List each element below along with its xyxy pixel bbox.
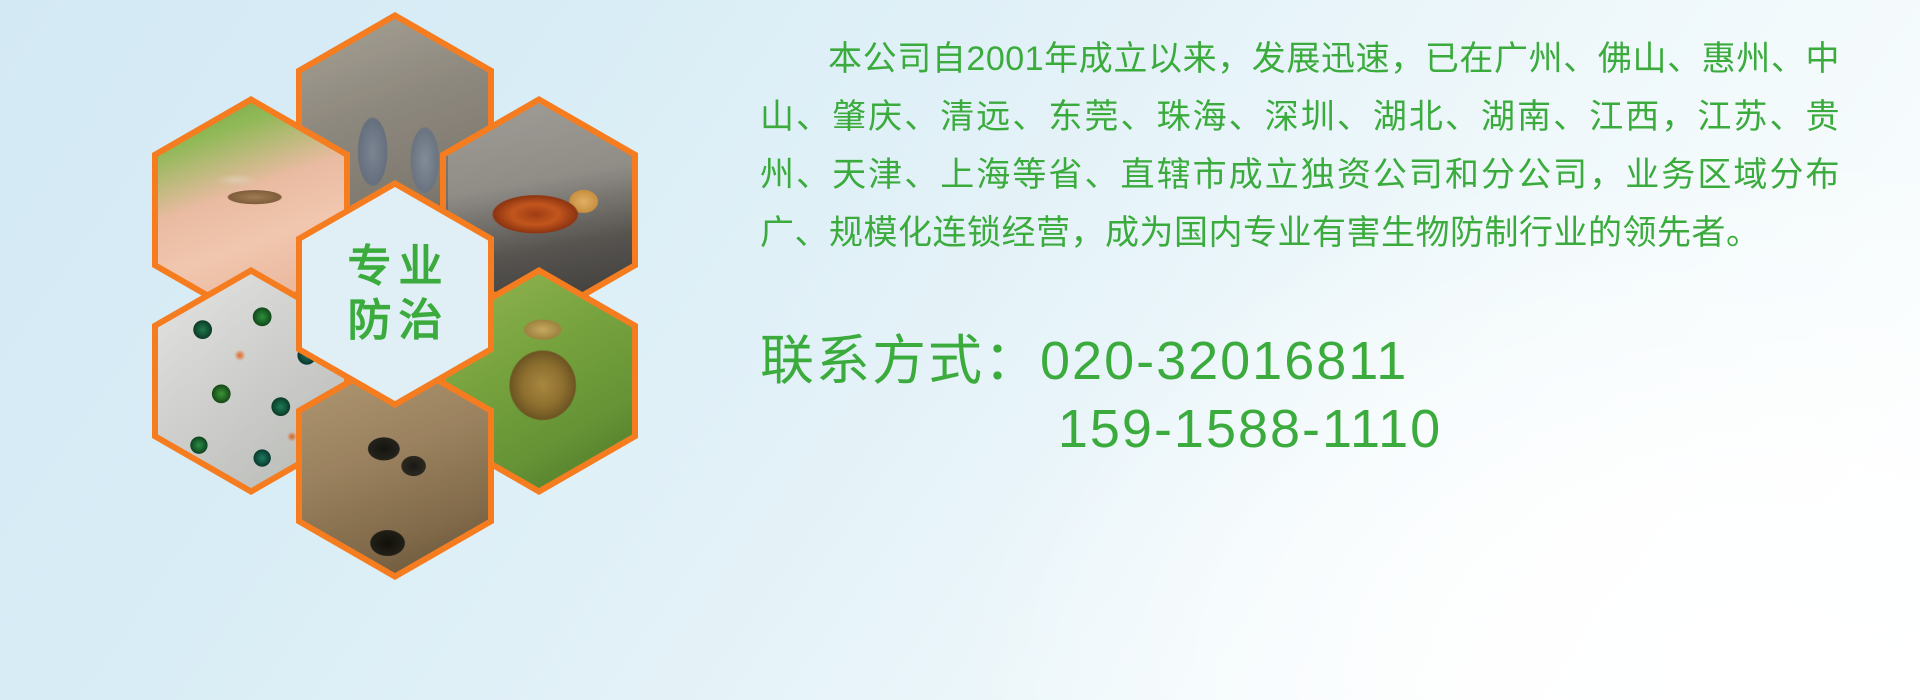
contact-block: 联系方式：020-32016811 159-1588-1110 — [760, 328, 1840, 463]
company-description: 本公司自2001年成立以来，发展迅速，已在广州、佛山、惠州、中山、肇庆、清远、东… — [760, 30, 1840, 262]
hex-inner-slogan: 专业 防治 — [302, 187, 488, 401]
banner-content: 本公司自2001年成立以来，发展迅速，已在广州、佛山、惠州、中山、肇庆、清远、东… — [760, 30, 1840, 463]
contact-mobile[interactable]: 159-1588-1110 — [760, 396, 1840, 464]
slogan-line-2: 防治 — [341, 299, 450, 343]
contact-landline[interactable]: 020-32016811 — [1040, 331, 1408, 391]
contact-label: 联系方式： — [760, 331, 1040, 391]
honeycomb-image-cluster: 专业 防治 — [95, 8, 695, 588]
slogan-line-1: 专业 — [341, 245, 450, 289]
contact-landline-line: 联系方式：020-32016811 — [760, 328, 1840, 396]
